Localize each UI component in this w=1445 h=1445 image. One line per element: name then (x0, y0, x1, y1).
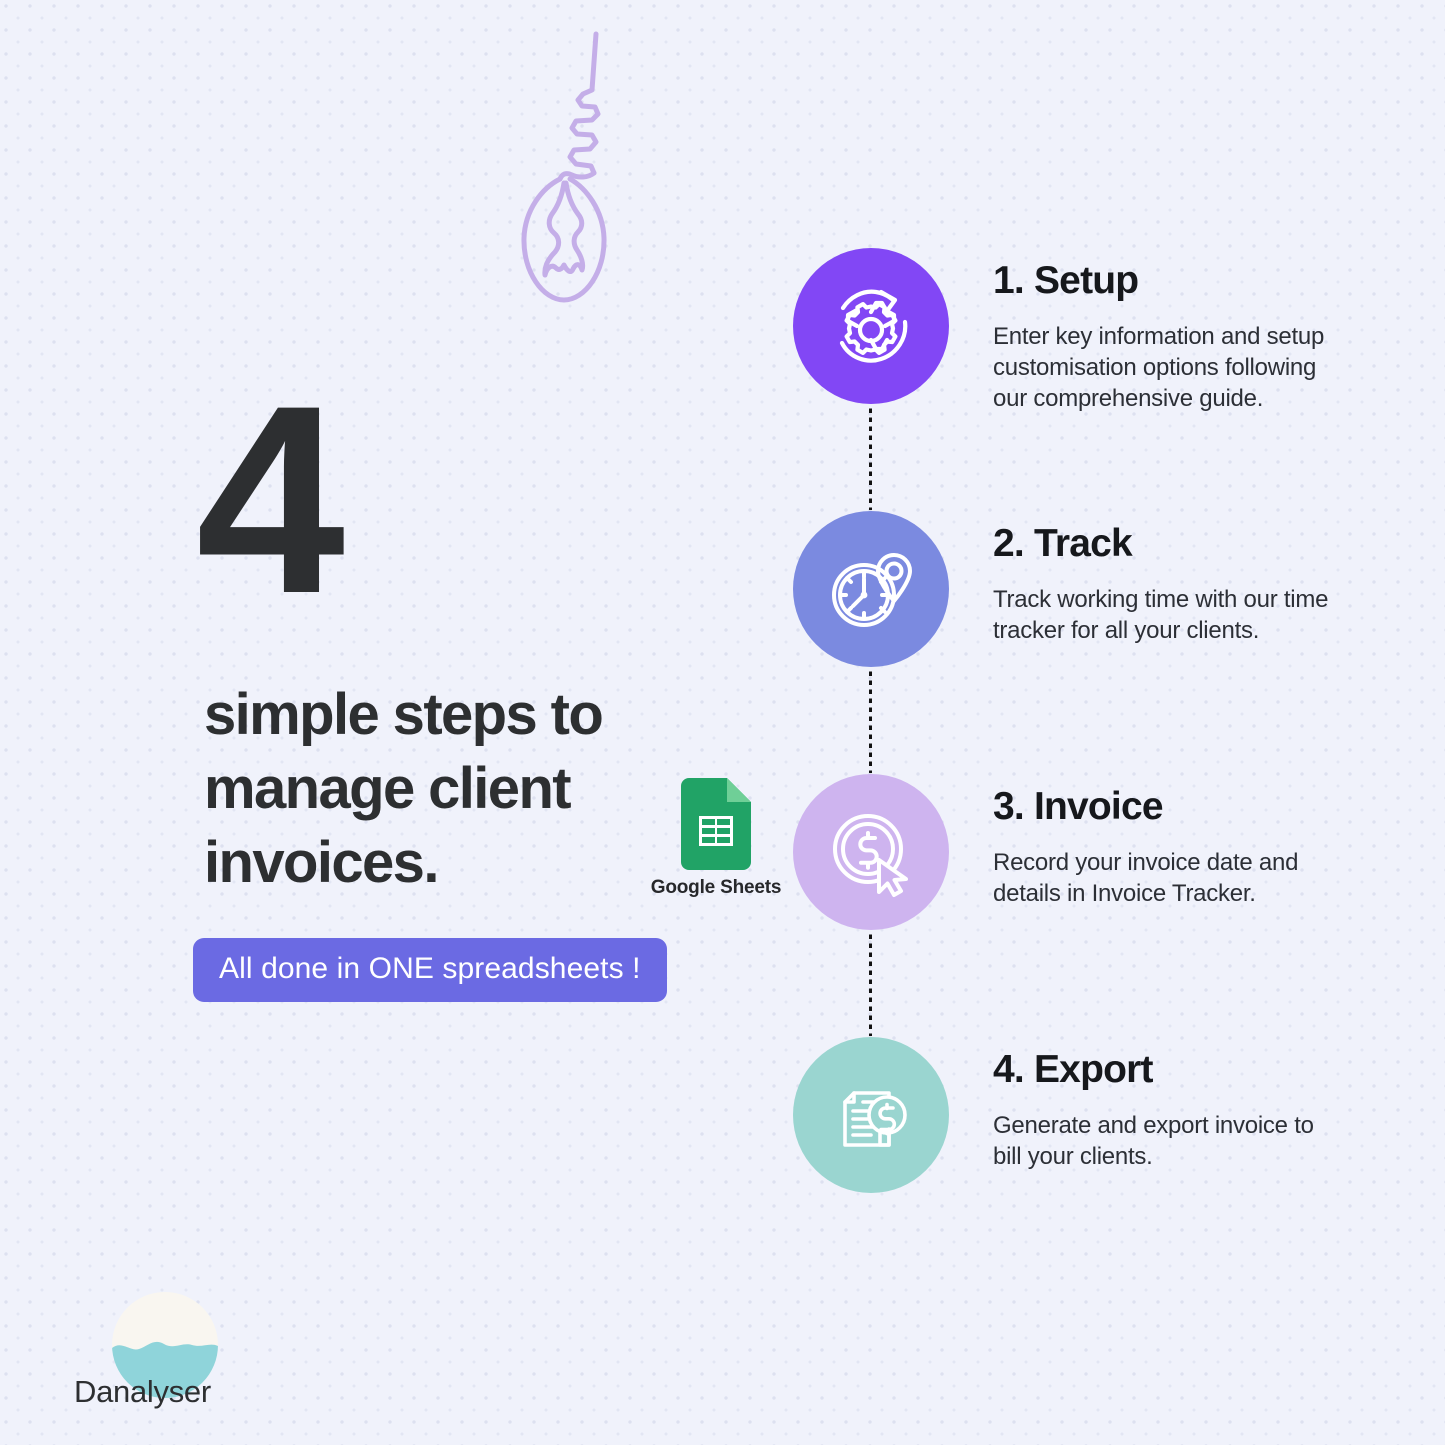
step-item-invoice: 3. Invoice Record your invoice date and … (793, 774, 1353, 1037)
google-sheets-block: Google Sheets (646, 778, 786, 899)
clock-location-pin-icon (823, 541, 919, 637)
step-description: Track working time with our time tracker… (993, 584, 1333, 646)
steps-list: 1. Setup Enter key information and setup… (793, 248, 1353, 1037)
google-sheets-icon (646, 778, 786, 870)
step-item-track: 2. Track Track working time with our tim… (793, 511, 1353, 774)
step-text-setup: 1. Setup Enter key information and setup… (993, 260, 1333, 414)
step-icon-circle-track (793, 511, 949, 667)
invoice-document-dollar-icon (823, 1067, 919, 1163)
google-sheets-label: Google Sheets (646, 877, 786, 899)
step-item-setup: 1. Setup Enter key information and setup… (793, 248, 1353, 511)
step-connector (869, 406, 872, 510)
step-icon-circle-invoice (793, 774, 949, 930)
dollar-coin-cursor-icon (823, 804, 919, 900)
hanging-lightbulb-icon (492, 28, 632, 328)
step-description: Record your invoice date and details in … (993, 847, 1333, 909)
step-title: 4. Export (993, 1049, 1333, 1092)
step-text-export: 4. Export Generate and export invoice to… (993, 1049, 1333, 1172)
step-title: 2. Track (993, 523, 1333, 566)
step-connector (869, 669, 872, 773)
gear-refresh-icon (823, 278, 919, 374)
step-title: 3. Invoice (993, 786, 1333, 829)
step-title: 1. Setup (993, 260, 1333, 303)
step-icon-circle-export (793, 1037, 949, 1193)
page-title: simple steps to manage client invoices. (204, 678, 704, 901)
logo-wordmark: Danalyser (74, 1374, 211, 1410)
step-connector (869, 932, 872, 1036)
hero-numeral: 4 (196, 372, 339, 627)
step-description: Enter key information and setup customis… (993, 321, 1333, 415)
infographic-canvas: 4 simple steps to manage client invoices… (0, 0, 1445, 1445)
status-badge: All done in ONE spreadsheets ! (193, 938, 667, 1002)
step-icon-circle-setup (793, 248, 949, 404)
step-description: Generate and export invoice to bill your… (993, 1110, 1333, 1172)
step-text-track: 2. Track Track working time with our tim… (993, 523, 1333, 646)
step-text-invoice: 3. Invoice Record your invoice date and … (993, 786, 1333, 909)
